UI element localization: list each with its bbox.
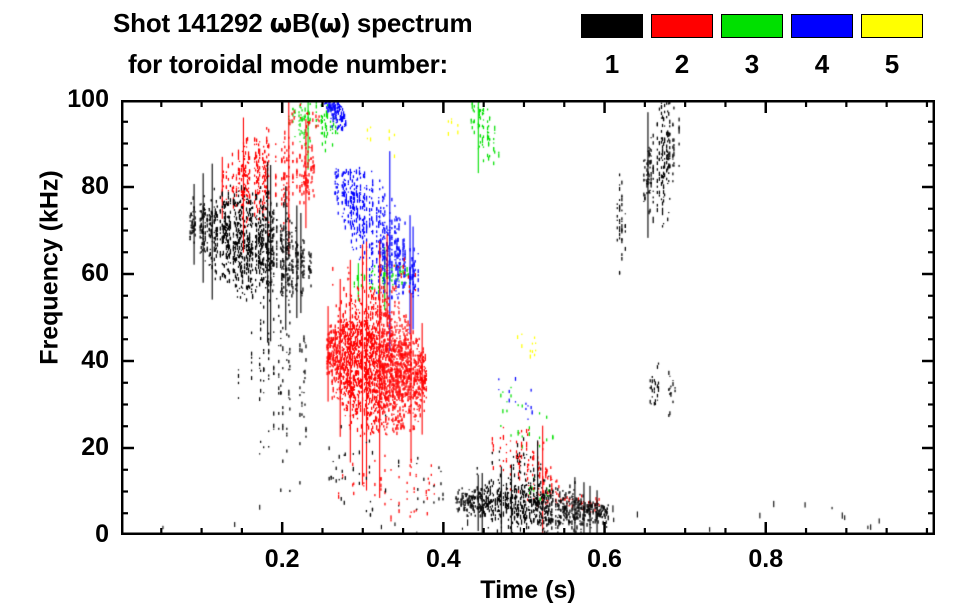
x-axis-label: Time (s)	[121, 578, 935, 603]
x-tick-label-0-4: 0.4	[403, 547, 483, 572]
legend-swatch-1	[581, 14, 643, 38]
legend-label-4: 4	[791, 51, 853, 77]
legend-swatch-2	[651, 14, 713, 38]
legend-swatch-3	[721, 14, 783, 38]
y-tick-label-100: 100	[39, 87, 109, 112]
legend-label-3: 3	[721, 51, 783, 77]
legend-label-1: 1	[581, 51, 643, 77]
y-tick-label-60: 60	[39, 261, 109, 286]
x-tick-label-0-6: 0.6	[565, 547, 645, 572]
legend-swatch-5	[861, 14, 923, 38]
y-tick-label-0: 0	[39, 522, 109, 547]
x-tick-label-0-8: 0.8	[726, 547, 806, 572]
legend-label-2: 2	[651, 51, 713, 77]
y-tick-label-20: 20	[39, 435, 109, 460]
y-tick-label-40: 40	[39, 348, 109, 373]
legend-swatch-4	[791, 14, 853, 38]
legend-label-5: 5	[861, 51, 923, 77]
spectrogram-plot-area	[121, 100, 935, 535]
spectrogram-figure: Shot 141292 ωB(ω) spectrum for toroidal …	[0, 0, 963, 615]
y-tick-label-80: 80	[39, 174, 109, 199]
legend: 12345	[0, 0, 963, 92]
x-tick-label-0-2: 0.2	[242, 547, 322, 572]
